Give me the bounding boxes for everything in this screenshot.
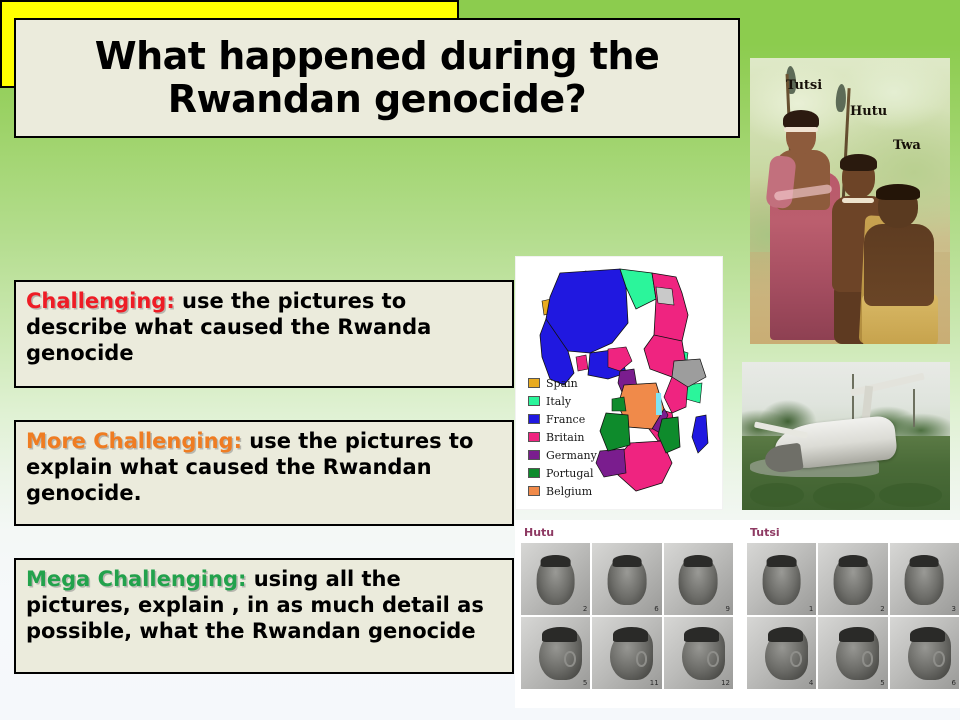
figure-twa (862, 184, 942, 344)
photo-number: 12 (721, 679, 730, 687)
photo-number: 2 (583, 605, 587, 613)
illustration-label-tutsi: Tutsi (786, 78, 822, 93)
legend-label-britain: Britain (546, 432, 584, 443)
anthropometric-photo-panel: Hutu 2 6 9 (515, 520, 960, 708)
legend-swatch-germany (528, 450, 540, 460)
legend-swatch-spain (528, 378, 540, 388)
legend-item: Germany (528, 447, 597, 463)
task-lead-mega-challenging: Mega Challenging: (26, 567, 246, 591)
photo-number: 6 (952, 679, 956, 687)
photo-number: 11 (650, 679, 659, 687)
task-box-challenging: Challenging: use the pictures to describ… (14, 280, 514, 388)
face-front-view (905, 555, 944, 605)
photo-number: 5 (583, 679, 587, 687)
shrub (879, 483, 941, 507)
legend-swatch-italy (528, 396, 540, 406)
task-box-mega-challenging: Mega Challenging: using all the pictures… (14, 558, 514, 674)
face-front-view (608, 555, 647, 605)
photo-number: 2 (880, 605, 884, 613)
title-box: What happened during the Rwandan genocid… (14, 18, 740, 138)
task-text-more-challenging: More Challenging: use the pictures to ex… (26, 428, 502, 506)
photo-number: 5 (880, 679, 884, 687)
legend-swatch-portugal (528, 468, 540, 478)
legend-label-portugal: Portugal (546, 468, 593, 479)
anthro-title-tutsi: Tutsi (747, 520, 959, 543)
legend-swatch-france (528, 414, 540, 424)
ethnic-groups-illustration: Tutsi Hutu Twa (750, 58, 950, 344)
legend-item: Spain (528, 375, 597, 391)
legend-label-germany: Germany (546, 450, 597, 461)
anthro-photo-cell: 12 (664, 617, 733, 689)
anthro-photo-cell: 5 (818, 617, 887, 689)
anthro-photo-cell: 3 (890, 543, 959, 615)
photo-number: 1 (809, 605, 813, 613)
anthro-photo-cell: 2 (521, 543, 590, 615)
anthro-grid-hutu: 2 6 9 5 (521, 543, 733, 689)
slide-canvas: What happened during the Rwandan genocid… (0, 0, 960, 720)
face-profile-view (539, 629, 582, 681)
anthro-photo-cell: 4 (747, 617, 816, 689)
legend-label-france: France (546, 414, 585, 425)
task-box-more-challenging: More Challenging: use the pictures to ex… (14, 420, 514, 526)
hair (840, 154, 877, 171)
map-region-condominium (656, 287, 674, 305)
legend-item: Belgium (528, 483, 597, 499)
map-legend: Spain Italy France Britain Germany Portu… (528, 375, 597, 501)
legend-label-belgium: Belgium (546, 486, 592, 497)
face-profile-view (836, 629, 879, 681)
legend-item: Britain (528, 429, 597, 445)
legend-item: France (528, 411, 597, 427)
legend-item: Portugal (528, 465, 597, 481)
anthro-photo-cell: 1 (747, 543, 816, 615)
anthro-photo-cell: 9 (664, 543, 733, 615)
legend-swatch-belgium (528, 486, 540, 496)
anthro-photo-cell: 6 (890, 617, 959, 689)
utility-pole (852, 374, 854, 424)
map-region-portugal (600, 413, 630, 451)
map-region-france (692, 415, 708, 453)
africa-colonial-map: Spain Italy France Britain Germany Portu… (515, 256, 723, 510)
photo-number: 4 (809, 679, 813, 687)
task-text-mega-challenging: Mega Challenging: using all the pictures… (26, 566, 502, 644)
map-region-portugal (612, 397, 626, 411)
face-profile-view (765, 629, 808, 681)
task-lead-more-challenging: More Challenging: (26, 429, 242, 453)
headband (784, 127, 818, 132)
face-front-view (679, 555, 718, 605)
shrub (813, 483, 875, 510)
page-title: What happened during the Rwandan genocid… (16, 35, 738, 122)
photo-number: 9 (726, 605, 730, 613)
face-front-view (536, 555, 575, 605)
plane-crash-photo (742, 362, 950, 510)
illustration-label-hutu: Hutu (850, 104, 887, 119)
anthro-photo-cell: 6 (592, 543, 661, 615)
anthro-photo-cell: 11 (592, 617, 661, 689)
legend-item: Italy (528, 393, 597, 409)
map-region-britain (576, 355, 588, 371)
task-text-challenging: Challenging: use the pictures to describ… (26, 288, 502, 366)
anthro-photo-cell: 5 (521, 617, 590, 689)
legend-label-spain: Spain (546, 378, 578, 389)
face-profile-view (908, 629, 951, 681)
map-lake (656, 393, 662, 415)
face-profile-view (682, 629, 725, 681)
legend-label-italy: Italy (546, 396, 571, 407)
anthro-group-hutu: Hutu 2 6 9 (521, 520, 733, 689)
photo-number: 3 (952, 605, 956, 613)
torso (864, 224, 934, 306)
map-region-britain (608, 347, 632, 371)
utility-pole (913, 389, 915, 427)
anthro-title-hutu: Hutu (521, 520, 733, 543)
anthro-photo-cell: 2 (818, 543, 887, 615)
face-front-view (834, 555, 873, 605)
illustration-label-twa: Twa (893, 138, 921, 153)
face-profile-view (610, 629, 653, 681)
anthro-grid-tutsi: 1 2 3 4 (747, 543, 959, 689)
anthro-group-tutsi: Tutsi 1 2 3 (747, 520, 959, 689)
task-lead-challenging: Challenging: (26, 289, 175, 313)
photo-number: 6 (654, 605, 658, 613)
legend-swatch-britain (528, 432, 540, 442)
hair (876, 184, 920, 200)
map-region-germany (596, 449, 626, 477)
face-front-view (762, 555, 801, 605)
